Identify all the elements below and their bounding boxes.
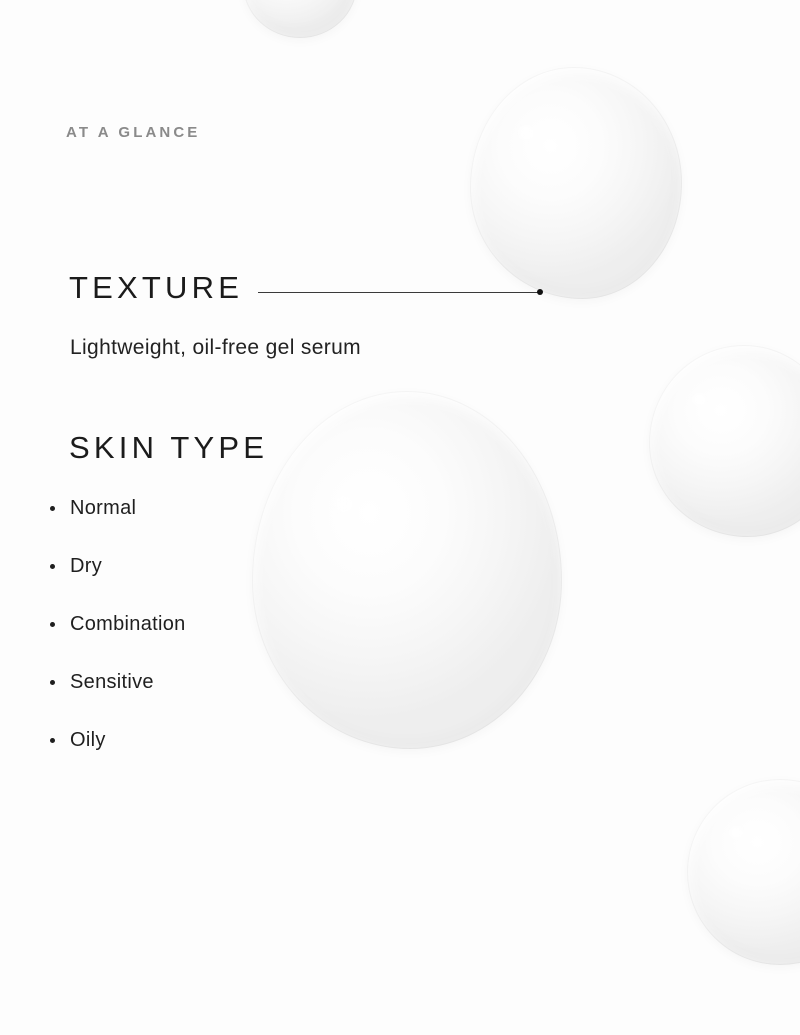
- texture-description: Lightweight, oil-free gel serum: [70, 336, 361, 360]
- list-item-label: Normal: [70, 497, 136, 519]
- texture-leader-line: [258, 292, 540, 293]
- at-a-glance-card: AT A GLANCE TEXTURE Lightweight, oil-fre…: [0, 0, 800, 1035]
- list-item-label: Oily: [70, 729, 106, 751]
- texture-heading: TEXTURE: [69, 272, 243, 303]
- list-item: Normal: [48, 498, 186, 556]
- bullet-dot-icon: [50, 564, 55, 569]
- list-item: Dry: [48, 556, 186, 614]
- eyebrow-label: AT A GLANCE: [66, 124, 200, 141]
- list-item: Sensitive: [48, 672, 186, 730]
- list-item-label: Sensitive: [70, 671, 154, 693]
- bullet-dot-icon: [50, 622, 55, 627]
- bullet-dot-icon: [50, 506, 55, 511]
- texture-leader-dot: [537, 289, 543, 295]
- bullet-dot-icon: [50, 738, 55, 743]
- skin-type-list: Normal Dry Combination Sensitive Oily: [48, 498, 186, 788]
- bullet-dot-icon: [50, 680, 55, 685]
- list-item-label: Dry: [70, 555, 102, 577]
- list-item: Combination: [48, 614, 186, 672]
- list-item-label: Combination: [70, 613, 186, 635]
- texture-leader: [258, 289, 542, 296]
- card-content: AT A GLANCE TEXTURE Lightweight, oil-fre…: [0, 0, 800, 1035]
- list-item: Oily: [48, 730, 186, 788]
- skin-type-heading: SKIN TYPE: [69, 432, 268, 463]
